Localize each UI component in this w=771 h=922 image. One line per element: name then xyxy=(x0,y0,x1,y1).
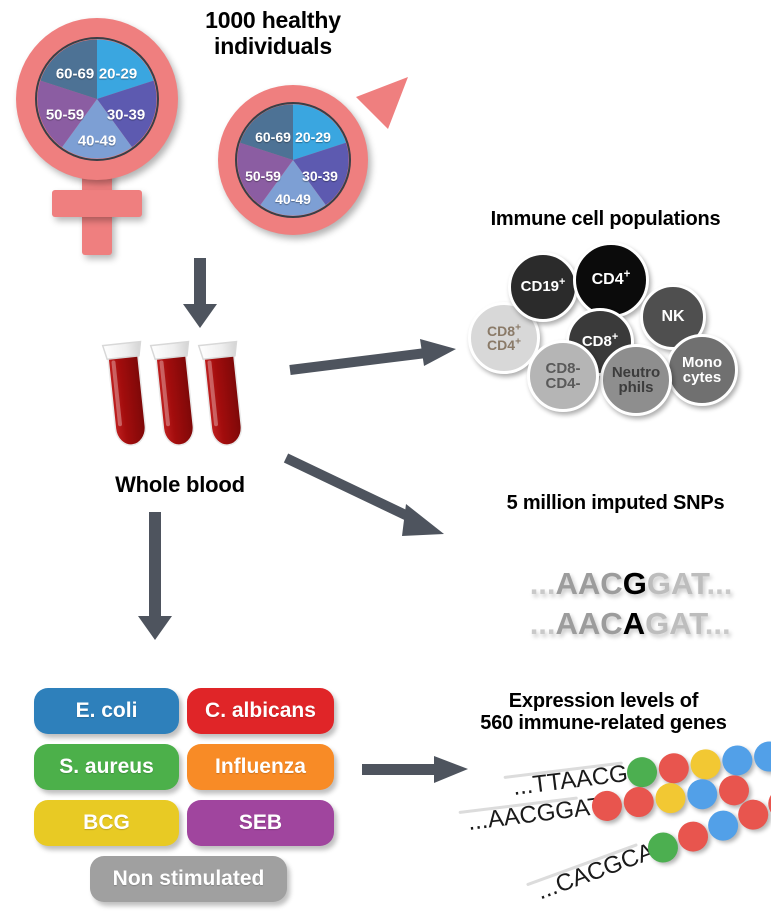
stimulus-bcg[interactable]: BCG xyxy=(34,800,179,846)
arrow-blood-to-immune xyxy=(288,330,458,380)
stimulus-s-aureus[interactable]: S. aureus xyxy=(34,744,179,790)
female-pie-slices xyxy=(37,39,156,158)
male-age-pie: 20-29 30-39 40-49 50-59 60-69 xyxy=(235,102,351,218)
expression-title-line1: Expression levels of xyxy=(436,690,771,712)
arrow-cohort-to-blood xyxy=(180,258,220,330)
immune-cell-label: NK xyxy=(661,309,684,325)
whole-blood-label: Whole blood xyxy=(90,473,270,498)
immune-cell-label: CD8-CD4- xyxy=(545,361,580,392)
snp-right: GAT xyxy=(645,606,705,641)
male-symbol: 20-29 30-39 40-49 50-59 60-69 xyxy=(208,60,423,250)
snp-left: AAC xyxy=(556,606,623,641)
arrow-blood-to-snps xyxy=(284,452,454,542)
immune-cell-cd19p: CD19+ xyxy=(508,252,578,322)
female-symbol: 20-29 30-39 40-49 50-59 60-69 xyxy=(8,10,198,240)
blood-tubes xyxy=(100,335,270,460)
arrow-blood-to-stimuli xyxy=(135,512,175,642)
gene-bead xyxy=(654,781,687,814)
snp-variant: A xyxy=(623,606,645,641)
stimulus-e-coli[interactable]: E. coli xyxy=(34,688,179,734)
stimulus-influenza[interactable]: Influenza xyxy=(187,744,334,790)
stimulus-c-albicans[interactable]: C. albicans xyxy=(187,688,334,734)
gene-bead xyxy=(734,795,771,833)
arrow-stimuli-to-expression xyxy=(362,750,472,790)
blood-tube xyxy=(103,342,151,447)
immune-cell-cd8n-cd4n: CD8-CD4- xyxy=(527,340,599,412)
female-age-pie: 20-29 30-39 40-49 50-59 60-69 xyxy=(35,37,159,161)
cohort-heading-line2: individuals xyxy=(178,34,368,60)
arrow-right-down-icon xyxy=(284,452,454,542)
strand-sequence: ...AACGGAT xyxy=(466,793,604,837)
snp-sequences: ...AACGGAT... ...AACAGAT... xyxy=(478,530,758,630)
immune-cell-label: CD8+ xyxy=(582,334,618,349)
stimulus-seb[interactable]: SEB xyxy=(187,800,334,846)
cohort-heading-line1: 1000 healthy xyxy=(178,8,368,34)
arrow-right-up-icon xyxy=(288,330,458,380)
immune-cell-cluster: CD8+CD4+ CD19+ CD4+ CD8+ NK Monocytes Ne… xyxy=(460,240,760,420)
expression-title-line2: 560 immune-related genes xyxy=(436,712,771,734)
immune-cell-neutrophils: Neutrophils xyxy=(600,344,672,416)
gene-bead xyxy=(704,806,742,844)
stimulus-non-stimulated[interactable]: Non stimulated xyxy=(90,856,287,902)
immune-cell-label: Monocytes xyxy=(682,355,722,386)
gene-bead xyxy=(686,778,719,811)
gene-bead xyxy=(721,744,754,777)
immune-cell-label: CD8+CD4+ xyxy=(487,324,521,353)
female-stem-horizontal xyxy=(52,190,142,217)
blood-tube xyxy=(199,342,247,447)
snps-title: 5 million imputed SNPs xyxy=(460,492,771,514)
snp-suffix: ... xyxy=(705,606,731,641)
immune-cell-monocytes: Monocytes xyxy=(666,334,738,406)
immune-cell-cd4p: CD4+ xyxy=(573,242,649,318)
gene-bead xyxy=(674,817,712,855)
male-pie-svg xyxy=(235,102,351,218)
female-pie-svg xyxy=(35,37,159,161)
arrow-right-icon xyxy=(362,750,472,790)
blood-tubes-svg xyxy=(100,335,270,460)
figure-canvas: 1000 healthy individuals 20-29 30-39 40-… xyxy=(0,0,771,922)
immune-title: Immune cell populations xyxy=(440,208,771,230)
male-pie-slices xyxy=(237,104,348,215)
expression-title: Expression levels of 560 immune-related … xyxy=(436,690,771,735)
immune-cell-label: CD4+ xyxy=(592,272,631,288)
immune-cell-label: CD19+ xyxy=(521,279,566,294)
gene-bead xyxy=(622,785,655,818)
cohort-heading: 1000 healthy individuals xyxy=(178,8,368,60)
immune-cell-label: Neutrophils xyxy=(612,365,660,396)
snp-sequence-row: ...AACAGAT... xyxy=(478,570,731,678)
arrow-down-icon xyxy=(135,512,175,642)
arrow-down-icon xyxy=(180,258,220,330)
snp-prefix: ... xyxy=(530,606,556,641)
blood-tube xyxy=(151,342,199,447)
gene-bead xyxy=(752,740,771,773)
